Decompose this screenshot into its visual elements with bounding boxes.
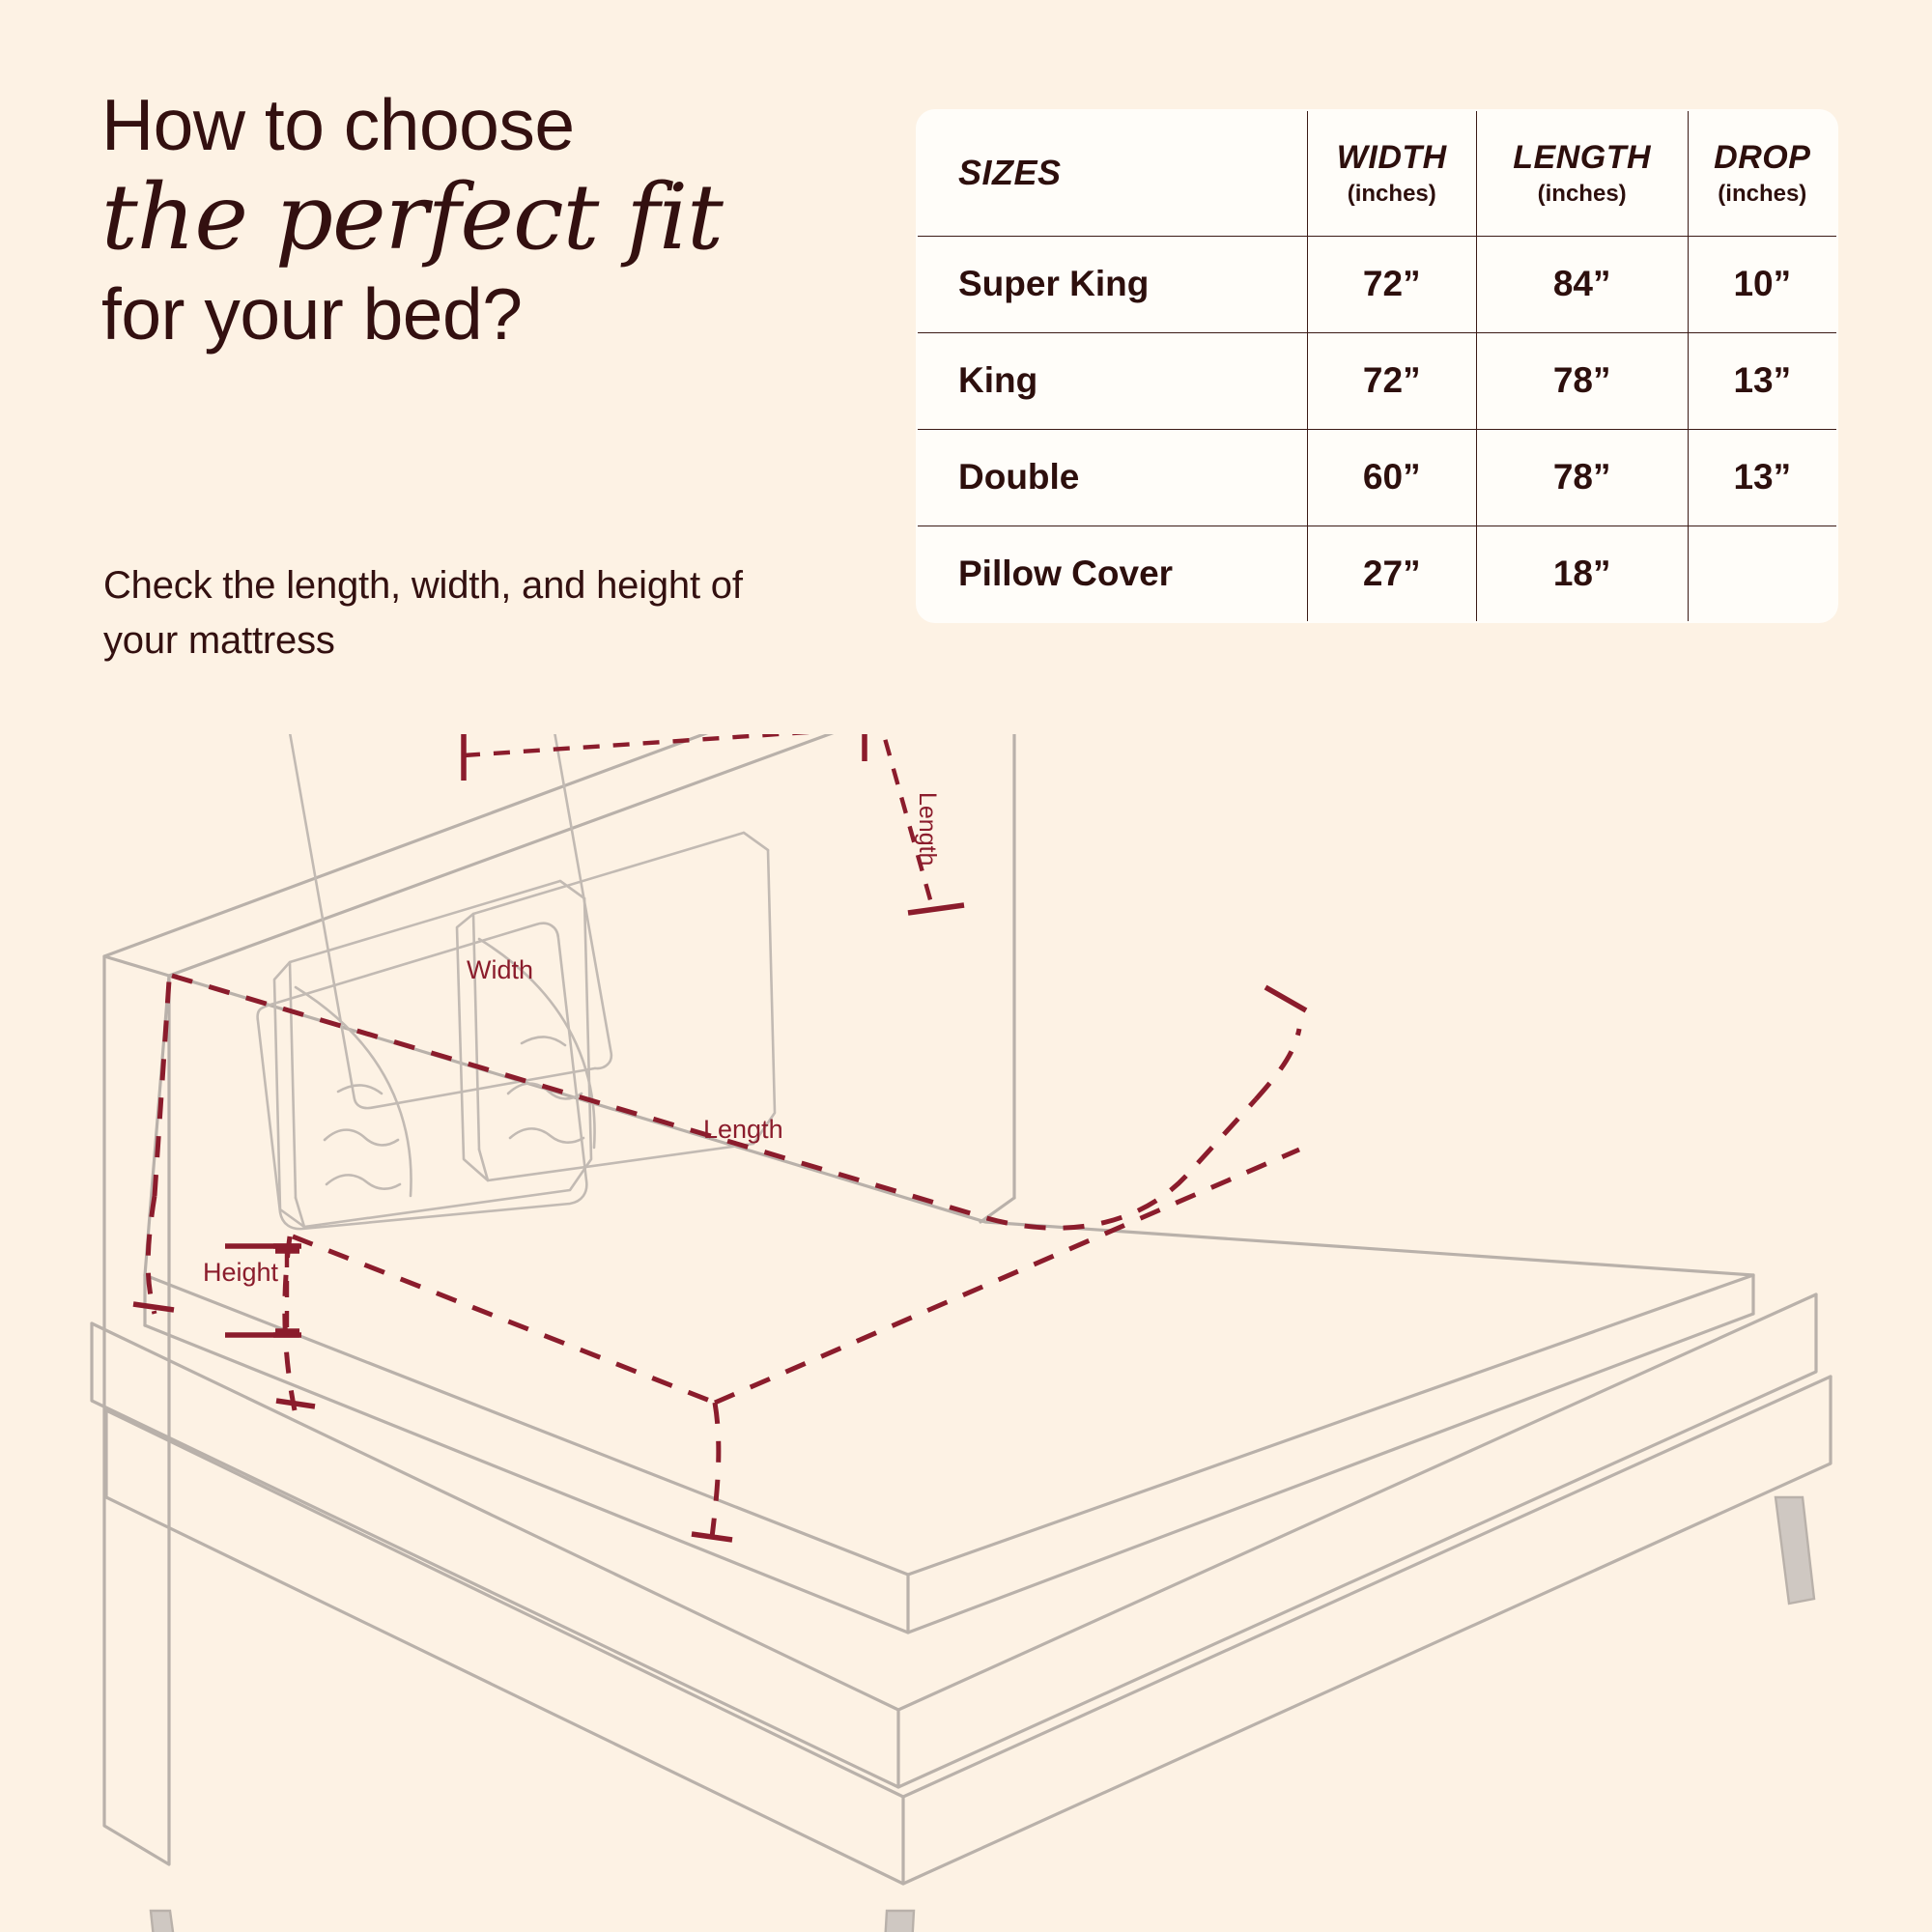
mattress-width-label: Width (467, 955, 533, 984)
cell-length: 78” (1476, 429, 1688, 526)
heading-line-3: for your bed? (101, 278, 874, 351)
table-row: Pillow Cover 27” 18” (917, 526, 1837, 622)
column-header-length-unit: (inches) (1477, 181, 1688, 208)
cell-size-name: Super King (917, 236, 1307, 332)
table-row: Super King 72” 84” 10” (917, 236, 1837, 332)
cell-width: 27” (1307, 526, 1476, 622)
page-heading: How to choose the perfect fit for your b… (101, 89, 874, 351)
pillow-length-label: Length (914, 792, 941, 866)
cell-length: 84” (1476, 236, 1688, 332)
table-header-row: SIZES WIDTH (inches) LENGTH (inches) DRO… (917, 110, 1837, 236)
heading-line-2-emphasis: the perfect fit (101, 167, 874, 269)
cell-drop: 10” (1688, 236, 1837, 332)
column-header-width: WIDTH (inches) (1307, 110, 1476, 236)
column-header-length-label: LENGTH (1513, 139, 1651, 176)
column-header-drop-unit: (inches) (1689, 181, 1836, 208)
table-row: King 72” 78” 13” (917, 332, 1837, 429)
size-chart-container: SIZES WIDTH (inches) LENGTH (inches) DRO… (916, 109, 1838, 623)
cell-size-name: Double (917, 429, 1307, 526)
cell-width: 72” (1307, 332, 1476, 429)
cell-size-name: King (917, 332, 1307, 429)
cell-drop: 13” (1688, 332, 1837, 429)
cell-size-name: Pillow Cover (917, 526, 1307, 622)
column-header-width-unit: (inches) (1308, 181, 1476, 208)
column-header-length: LENGTH (inches) (1476, 110, 1688, 236)
cell-width: 60” (1307, 429, 1476, 526)
bed-illustration: Width Length Width Height Length (0, 734, 1932, 1932)
table-row: Double 60” 78” 13” (917, 429, 1837, 526)
cell-drop: 13” (1688, 429, 1837, 526)
subtitle-text: Check the length, width, and height of y… (103, 558, 780, 668)
column-header-drop-label: DROP (1714, 139, 1810, 176)
column-header-sizes: SIZES (917, 110, 1307, 236)
mattress-length-label: Length (703, 1115, 783, 1144)
column-header-drop: DROP (inches) (1688, 110, 1837, 236)
cell-drop (1688, 526, 1837, 622)
cell-length: 78” (1476, 332, 1688, 429)
cell-width: 72” (1307, 236, 1476, 332)
mattress-height-label: Height (203, 1258, 279, 1287)
cell-length: 18” (1476, 526, 1688, 622)
column-header-sizes-label: SIZES (958, 153, 1062, 192)
size-chart-table: SIZES WIDTH (inches) LENGTH (inches) DRO… (916, 109, 1838, 623)
column-header-width-label: WIDTH (1337, 139, 1447, 176)
heading-line-1: How to choose (101, 89, 874, 161)
